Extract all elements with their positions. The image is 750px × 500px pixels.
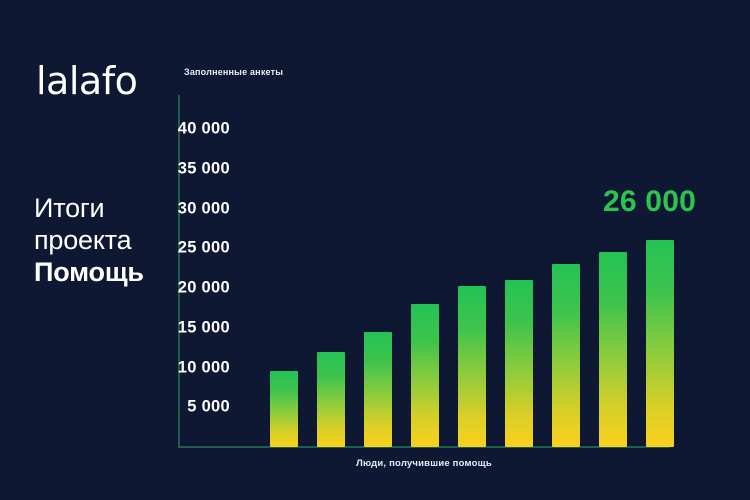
bar-3 [364, 332, 392, 447]
y-axis-tick: 5 000 [20, 398, 230, 417]
bar-chart: Заполненные анкеты 40 00035 00030 00025 … [178, 0, 750, 500]
bar-8 [599, 252, 627, 447]
bar-5 [458, 286, 486, 447]
y-axis-line [178, 95, 180, 448]
bar-2 [317, 352, 345, 447]
y-axis-tick: 25 000 [20, 239, 230, 258]
poster-canvas: lalafo Итоги проекта Помощь Заполненные … [0, 0, 750, 500]
bar-4 [411, 304, 439, 447]
lalafo-logo: lalafo [36, 62, 137, 100]
y-axis-tick: 15 000 [20, 318, 230, 337]
bar-7 [552, 264, 580, 447]
bar-1 [270, 371, 298, 447]
max-value-callout: 26 000 [603, 185, 696, 219]
x-axis-title: Люди, получившие помощь [178, 458, 670, 469]
y-axis-tick: 30 000 [20, 199, 230, 218]
bar-9 [646, 240, 674, 447]
y-axis-tick: 20 000 [20, 279, 230, 298]
y-axis-tick: 35 000 [20, 159, 230, 178]
y-axis-title: Заполненные анкеты [184, 66, 294, 79]
y-axis-tick: 40 000 [20, 120, 230, 139]
y-axis-tick: 10 000 [20, 358, 230, 377]
bar-6 [505, 280, 533, 447]
